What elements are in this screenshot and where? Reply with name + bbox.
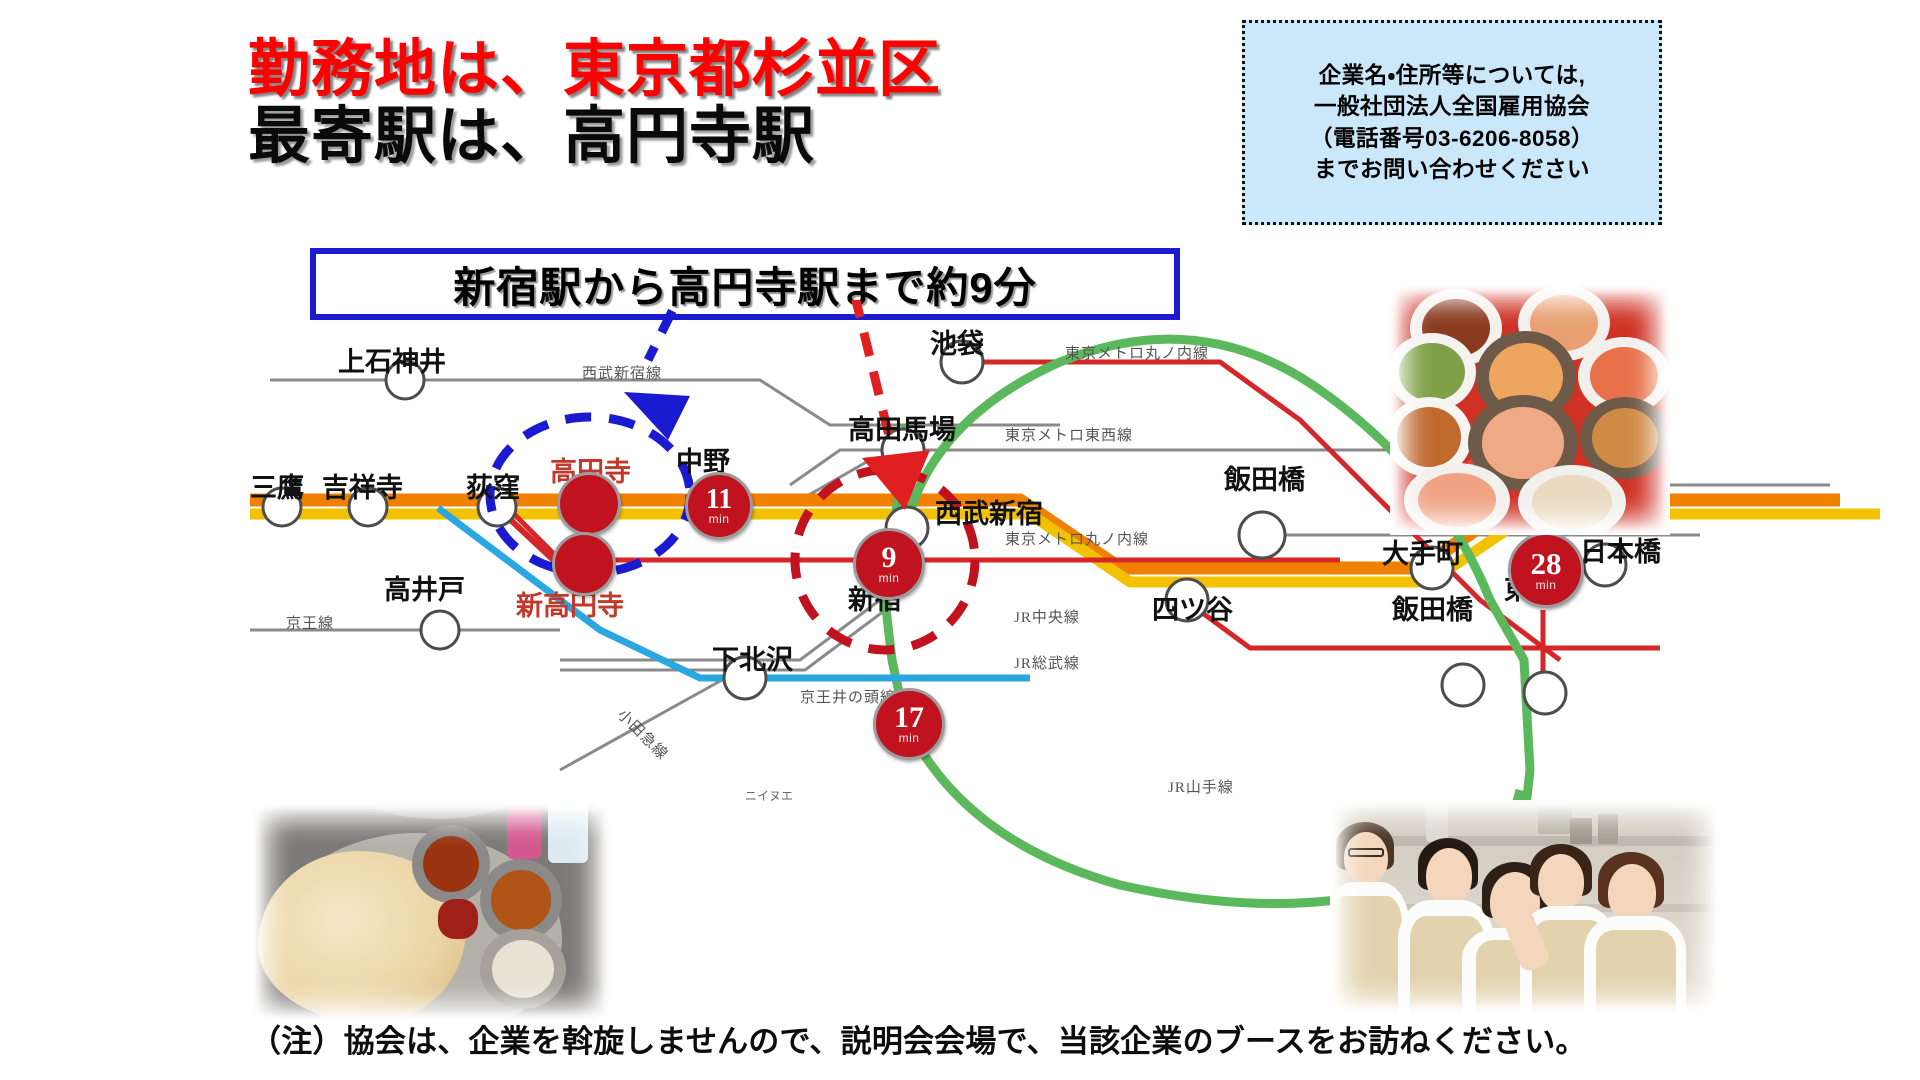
photo-feather-edge [1330,800,1720,1015]
time-badge-nakano-value: 11 [706,487,732,514]
info-line-2: 一般社団法人全国雇用協会 [1314,91,1590,122]
station-label-takadanobaba: 高田馬場 [848,408,956,447]
time-badge-tokyo: 28 min [1508,532,1584,608]
slide-canvas: 勤務地は、東京都杉並区 最寄駅は、高円寺駅 企業名・住所等については, 一般社団… [0,0,1920,1080]
map-credit-mark: ニイヌエ [745,787,793,804]
headline-line-1: 勤務地は、東京都杉並区 [248,38,941,101]
line-label-jr-sobu: JR総武線 [1014,652,1080,673]
line-label-marunouchi-south: 東京メトロ丸ノ内線 [1005,528,1149,549]
time-badge-shinjuku-value: 9 [882,544,897,573]
highlight-dot-koenji [557,472,621,536]
station-label-seibushinjuku: 西武新宿 [935,492,1043,531]
info-line-4: までお問い合わせください [1314,154,1590,185]
time-badge-shibuya-unit: min [899,732,920,744]
station-label-nihonbashi: 日本橋 [1580,530,1661,569]
station-circle-tokyo-sub [1524,672,1566,714]
line-label-jr-yamanote: JR山手線 [1168,776,1234,797]
station-label-yotsuya: 四ツ谷 [1152,588,1233,627]
line-label-tozai: 東京メトロ東西線 [1005,424,1133,445]
station-circle-iidabashi-north [1239,512,1285,558]
photo-feather-edge [1390,285,1670,535]
station-label-mitaka: 三鷹 [250,466,304,505]
station-label-ikebukuro: 池袋 [930,322,984,361]
highlight-dot-shinkoenji [552,532,616,596]
station-circle-takaido [421,611,459,649]
info-line-1: 企業名・住所等については, [1319,60,1586,91]
line-label-marunouchi-north: 東京メトロ丸ノ内線 [1065,342,1209,363]
red-pointer-arrow [845,300,930,510]
station-label-otemachi: 大手町 [1382,532,1463,571]
time-badge-shinjuku: 9 min [853,528,925,600]
page-title: 勤務地は、東京都杉並区 最寄駅は、高円寺駅 [248,38,941,168]
station-label-kichijoji: 吉祥寺 [322,466,403,505]
time-badge-shibuya: 17 min [873,688,945,760]
station-label-iidabashi-south: 飯田橋 [1392,588,1473,627]
time-badge-shinjuku-unit: min [879,572,900,584]
info-line-3: （電話番号03-6206-8058） [1310,123,1594,154]
footnote-text: （注）協会は、企業を斡旋しませんので、説明会会場で、当該企業のブースをお訪ねくだ… [250,1016,1710,1061]
photo-feather-edge [252,803,610,1021]
line-label-seibu-shinjuku: 西武新宿線 [582,362,662,383]
line-label-jr-chuo: JR中央線 [1014,606,1080,627]
contact-info-box: 企業名・住所等については, 一般社団法人全国雇用協会 （電話番号03-6206-… [1242,20,1662,225]
station-label-kamishakujii: 上石神井 [338,340,446,379]
station-label-shimokitazawa: 下北沢 [712,638,793,677]
time-badge-tokyo-value: 28 [1531,549,1562,578]
time-badge-shibuya-value: 17 [894,704,924,733]
staff-group-photo [1330,800,1720,1015]
station-label-iidabashi-north: 飯田橋 [1224,458,1305,497]
headline-line-2: 最寄駅は、高円寺駅 [248,105,941,168]
station-label-ogikubo: 荻窪 [466,466,520,505]
time-badge-nakano-unit: min [709,513,730,525]
station-circle-iidabashi-south [1442,664,1484,706]
line-label-keio: 京王線 [286,612,334,633]
curry-bowls-photo [1390,285,1670,535]
time-badge-nakano: 11 min [685,472,753,540]
naan-curry-set-photo [252,803,610,1021]
time-badge-tokyo-unit: min [1536,579,1557,591]
station-label-takaido: 高井戸 [384,568,465,607]
